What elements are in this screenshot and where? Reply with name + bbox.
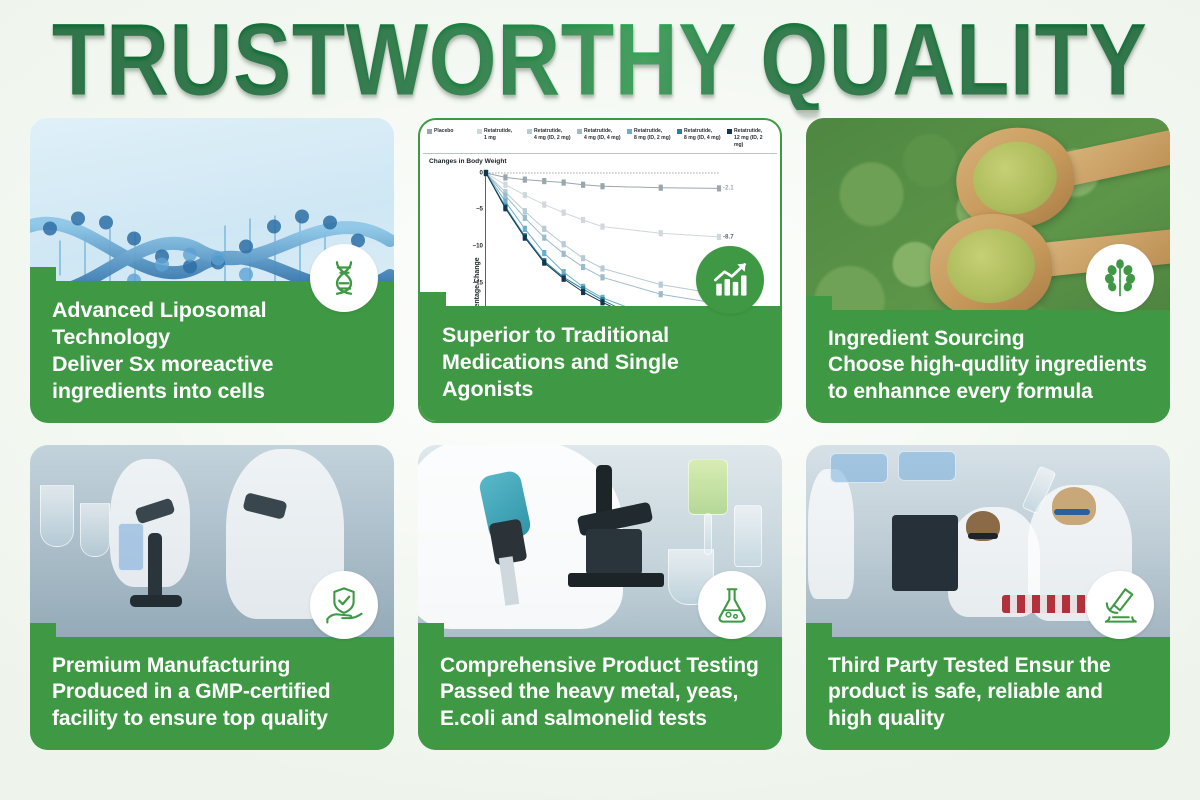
chart-data-marker [600,299,604,305]
flask-icon [711,584,753,626]
legend-item: Placebo [427,128,473,135]
card-comprehensive-product-testing[interactable]: Comprehensive Product Testing Passed the… [418,445,782,750]
legend-item: Retatrutide, 1 mg [477,128,523,142]
dna-icon [323,257,365,299]
chart-data-marker [523,192,527,198]
legend-item: Retatrutide, 4 mg (ID, 2 mg) [527,128,573,142]
flask-icon-badge [698,571,766,639]
legend-swatch [527,129,532,134]
chart-data-marker [523,176,527,182]
chart-data-marker [562,209,566,215]
chart-data-marker [562,250,566,256]
chart-data-marker [659,291,663,297]
chart-data-marker [542,234,546,240]
chart-data-marker [542,201,546,207]
chart-data-marker [600,223,604,229]
legend-swatch [627,129,632,134]
chart-data-marker [659,184,663,190]
card-superior-to-traditional-medications[interactable]: Placebo Retatrutide, 1 mg Retatrutide, 4… [418,118,782,423]
chart-y-tick: −10 [473,243,484,250]
growth-chart-icon-badge [696,246,764,314]
chart-data-marker [717,185,721,191]
legend-swatch [477,129,482,134]
chart-data-marker [600,274,604,280]
chart-data-marker [542,225,546,231]
chart-data-marker [503,205,507,211]
card-third-party-tested[interactable]: Third Party Tested Ensur the product is … [806,445,1170,750]
chart-data-marker [503,192,507,198]
chart-endpoint-label: -8.7 [723,233,734,240]
legend-label: Retatrutide, 4 mg (ID, 2 mg) [534,128,571,142]
chart-data-marker [523,208,527,214]
card-caption-ingredient-sourcing: Ingredient Sourcing Choose high-qudlity … [806,310,1170,423]
legend-swatch [727,129,732,134]
chart-y-tick: 0 [480,169,483,176]
legend-item: Retatrutide, 12 mg (ID, 2 mg) [727,128,773,149]
card-caption-superior-to-traditional-medications: Superior to Traditional Medications and … [420,306,780,421]
shield-check-in-hand-icon [323,584,365,626]
chart-data-marker [523,234,527,240]
legend-swatch [677,129,682,134]
microscope-icon [1099,584,1141,626]
chart-data-marker [562,275,566,281]
card-caption-premium-manufacturing: Premium Manufacturing Produced in a GMP-… [30,637,394,750]
chart-title: Changes in Body Weight [423,154,777,167]
legend-swatch [577,129,582,134]
chart-data-marker [484,170,488,176]
chart-y-tick: −15 [473,279,484,286]
chart-data-marker [562,179,566,185]
leaf-sprig-icon [1099,257,1141,299]
dna-icon-badge [310,244,378,312]
chart-endpoint-label: -2.1 [723,185,734,192]
chart-data-marker [659,281,663,287]
legend-label: Placebo [434,128,454,135]
chart-data-marker [542,178,546,184]
chart-data-marker [581,289,585,295]
chart-data-marker [600,183,604,189]
chart-data-marker [717,233,721,239]
chart-data-marker [523,214,527,220]
chart-data-marker [581,217,585,223]
legend-item: Retatrutide, 8 mg (ID, 4 mg) [677,128,723,142]
chart-data-marker [581,264,585,270]
chart-data-marker [542,250,546,256]
page-title: TRUSTWORTHY QUALITY [52,8,1147,110]
legend-label: Retatrutide, 12 mg (ID, 2 mg) [734,128,773,149]
legend-item: Retatrutide, 8 mg (ID, 2 mg) [627,128,673,142]
legend-label: Retatrutide, 8 mg (ID, 4 mg) [684,128,721,142]
chart-data-marker [581,255,585,261]
card-ingredient-sourcing[interactable]: Ingredient Sourcing Choose high-qudlity … [806,118,1170,423]
leaf-sprig-icon-badge [1086,244,1154,312]
chart-data-marker [542,259,546,265]
chart-data-marker [523,225,527,231]
legend-swatch [427,129,432,134]
page-header: TRUSTWORTHY QUALITY [0,0,1200,118]
feature-card-grid: Advanced Liposomal Technology Deliver Sx… [0,118,1200,750]
legend-label: Retatrutide, 4 mg (ID, 4 mg) [584,128,621,142]
chart-data-marker [503,174,507,180]
infographic-page: TRUSTWORTHY QUALITY [0,0,1200,800]
legend-label: Retatrutide, 1 mg [484,128,512,142]
legend-item: Retatrutide, 4 mg (ID, 4 mg) [577,128,623,142]
legend-label: Retatrutide, 8 mg (ID, 2 mg) [634,128,671,142]
chart-data-marker [600,265,604,271]
chart-legend: Placebo Retatrutide, 1 mg Retatrutide, 4… [423,123,777,154]
shield-check-in-hand-icon-badge [310,571,378,639]
growth-chart-icon [708,258,752,302]
chart-data-marker [503,181,507,187]
chart-data-marker [562,241,566,247]
chart-data-marker [581,181,585,187]
card-caption-comprehensive-product-testing: Comprehensive Product Testing Passed the… [418,637,782,750]
card-advanced-liposomal-technology[interactable]: Advanced Liposomal Technology Deliver Sx… [30,118,394,423]
chart-data-marker [659,230,663,236]
microscope-icon-badge [1086,571,1154,639]
chart-y-tick: −5 [476,206,483,213]
card-premium-manufacturing[interactable]: Premium Manufacturing Produced in a GMP-… [30,445,394,750]
card-caption-third-party-tested: Third Party Tested Ensur the product is … [806,637,1170,750]
